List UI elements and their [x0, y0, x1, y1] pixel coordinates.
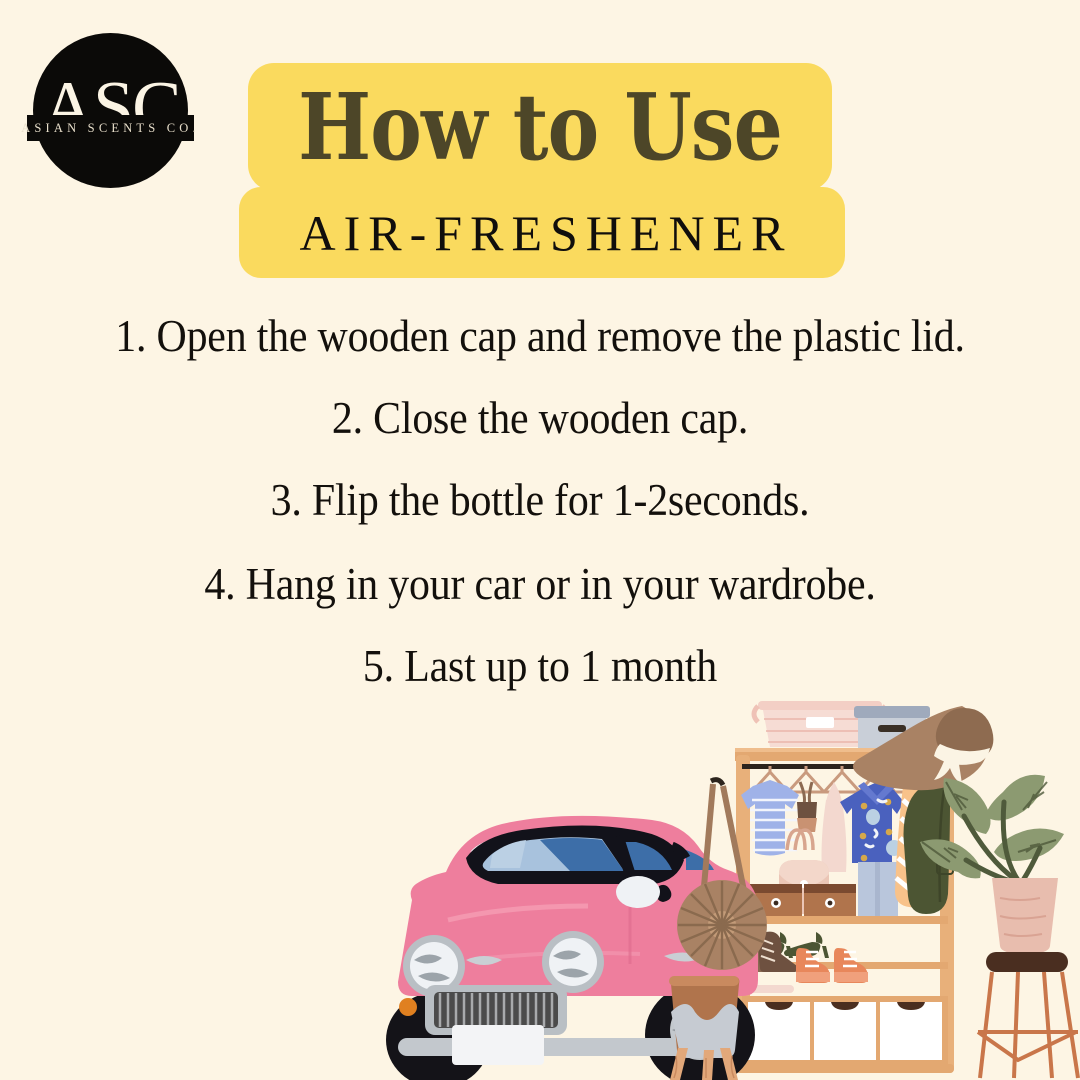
rack-mid-shelf [742, 916, 948, 924]
car-headlight-right [542, 931, 604, 993]
hat-ribbon-tail [934, 756, 962, 784]
brand-logo: ASC ASIAN SCENTS CO. [33, 33, 188, 188]
striped-tshirt-icon [741, 780, 800, 856]
instruction-step: 5. Last up to 1 month [103, 640, 977, 692]
plant-stand-frame [978, 972, 1078, 1078]
car-tire-rear [386, 992, 490, 1080]
car-body [398, 816, 758, 996]
clothes-hangers [752, 766, 949, 792]
car-license-plate [452, 1025, 544, 1065]
slip-dress-icon [822, 782, 847, 872]
storage-box-brown-right [804, 884, 856, 916]
car-grille [425, 985, 567, 1035]
logo-wordmark-band: ASIAN SCENTS CO. [27, 115, 194, 141]
pink-handbag-icon [779, 830, 829, 914]
instruction-step: 2. Close the wooden cap. [103, 392, 977, 444]
plant-pot [992, 878, 1058, 954]
wooden-stool-illustration [669, 976, 739, 1080]
drawer [814, 1002, 876, 1060]
pink-car-illustration [386, 816, 758, 1080]
jumpsuit-icon [840, 782, 904, 924]
woven-basket-icon [754, 701, 886, 747]
rack-hanging-rail [742, 764, 948, 769]
drawer [748, 1002, 810, 1060]
hat-brim [853, 706, 988, 790]
rack-post-right [940, 755, 954, 1073]
instruction-list: 1. Open the wooden cap and remove the pl… [70, 310, 1010, 692]
car-side-mirror [657, 885, 672, 902]
page-subtitle: AIR-FRESHENER [239, 187, 845, 278]
hat-ribbon [934, 744, 990, 765]
car-bumper [398, 1038, 688, 1056]
rack-base [736, 1064, 954, 1073]
drawer-row [748, 1002, 942, 1060]
sun-hat-illustration [853, 706, 993, 790]
car-window-frame [466, 825, 684, 884]
car-windshield [483, 837, 624, 871]
drawer-case [742, 996, 948, 1066]
car-door-handle [664, 952, 702, 961]
striped-dress-icon [895, 786, 931, 907]
car-indicator-right [546, 999, 564, 1017]
logo-wordmark: ASIAN SCENTS CO. [21, 121, 200, 136]
rack-top-shelf [735, 748, 954, 761]
stool-legs [670, 1048, 738, 1080]
poster-canvas: ASC ASIAN SCENTS CO. How to Use AIR-FRES… [0, 0, 1080, 1080]
potted-plant-illustration [920, 775, 1078, 1078]
hat-crown [936, 708, 994, 763]
rack-shoe-shelf [742, 962, 948, 969]
plant-stand-top [986, 952, 1068, 972]
rack-post-left [736, 755, 750, 1073]
car-badge [466, 956, 502, 965]
instruction-step: 4. Hang in your car or in your wardrobe. [103, 558, 977, 610]
stool-cushion [671, 1004, 739, 1058]
plant-leaves [920, 775, 1064, 879]
car-tire-front [645, 983, 755, 1080]
shoulder-bag-icon [797, 782, 817, 832]
storage-box-icon [854, 706, 930, 749]
brown-boots-icon [742, 931, 799, 993]
car-indicator-left [399, 998, 417, 1016]
car-mirror-glass [616, 876, 660, 908]
orange-sneakers-icon [796, 948, 868, 983]
instruction-step: 3. Flip the bottle for 1-2seconds. [103, 474, 977, 526]
car-headlight-left [403, 935, 465, 997]
rattan-bag-body [677, 880, 767, 970]
instruction-step: 1. Open the wooden cap and remove the pl… [103, 310, 977, 362]
hanging-rattan-bag [677, 780, 767, 970]
car-roof [470, 833, 664, 854]
storage-box-brown-left [750, 884, 802, 916]
olive-coat-icon [904, 782, 954, 914]
drawer [880, 1002, 942, 1060]
wardrobe-rack-illustration [735, 701, 954, 1073]
car-window-side [622, 842, 672, 870]
olive-heels-icon [748, 932, 829, 958]
plant-stems [964, 802, 1040, 882]
page-title: How to Use [295, 63, 786, 191]
